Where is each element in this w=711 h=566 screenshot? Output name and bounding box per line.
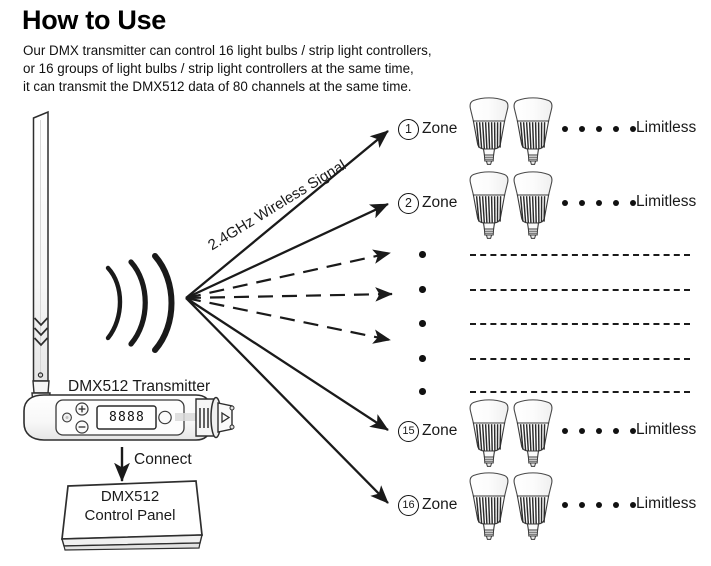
ellipsis-dot [579,502,585,508]
transmitter-caption: DMX512 Transmitter [68,378,210,396]
dot-ellipsis-zone-16 [562,502,636,508]
bulb-group-zone-15 [470,400,552,467]
control-panel-line-2: Control Panel [68,506,192,525]
ellipsis-dot [562,502,568,508]
control-panel-line-1: DMX512 [68,487,192,506]
vertical-ellipsis-dot-4 [419,355,426,362]
dashed-strip-row-5 [470,391,690,393]
zone-number-badge-16: 16 [398,495,419,516]
ellipsis-dot [613,200,619,206]
zone-label-2: Zone [422,194,457,212]
zone-number-badge-1: 1 [398,119,419,140]
bulb-group-zone-1 [470,98,552,165]
vertical-ellipsis-dot-3 [419,320,426,327]
ellipsis-dot [613,126,619,132]
ray-middle-1 [186,253,390,298]
limitless-label-zone-2: Limitless [636,193,696,211]
ellipsis-dot [596,126,602,132]
ellipsis-dot [596,428,602,434]
bulb-group-zone-2 [470,172,552,239]
ellipsis-dot [562,126,568,132]
dashed-strip-row-2 [470,289,690,291]
ellipsis-dot [613,502,619,508]
dashed-strip-row-3 [470,323,690,325]
ellipsis-dot [562,428,568,434]
ellipsis-dot [579,126,585,132]
ellipsis-dot [562,200,568,206]
dot-ellipsis-zone-1 [562,126,636,132]
limitless-label-zone-16: Limitless [636,495,696,513]
zone-number-badge-15: 15 [398,421,419,442]
ellipsis-dot [579,428,585,434]
zone-label-1: Zone [422,120,457,138]
zone-number-badge-2: 2 [398,193,419,214]
transmitter-display: 8888 [104,409,150,426]
control-panel-label: DMX512 Control Panel [68,487,192,525]
ellipsis-dot [579,200,585,206]
limitless-label-zone-15: Limitless [636,421,696,439]
bulb-group-zone-16 [470,473,552,540]
vertical-ellipsis-dot-1 [419,251,426,258]
zone-label-15: Zone [422,422,457,440]
ellipsis-dot [596,502,602,508]
wireless-wave-icon [108,256,172,350]
ray-zone-1 [186,131,388,298]
dot-ellipsis-zone-15 [562,428,636,434]
antenna-icon [32,112,50,404]
connect-label: Connect [134,451,192,469]
ellipsis-dot [596,200,602,206]
vertical-ellipsis-dot-2 [419,286,426,293]
diagram-vector-layer [0,0,711,566]
dashed-strip-row-4 [470,358,690,360]
dashed-strip-row-1 [470,254,690,256]
ray-middle-2 [186,294,392,298]
vertical-ellipsis-dot-5 [419,388,426,395]
limitless-label-zone-1: Limitless [636,119,696,137]
zone-label-16: Zone [422,496,457,514]
diagram-canvas: How to Use Our DMX transmitter can contr… [0,0,711,566]
ellipsis-dot [613,428,619,434]
dot-ellipsis-zone-2 [562,200,636,206]
